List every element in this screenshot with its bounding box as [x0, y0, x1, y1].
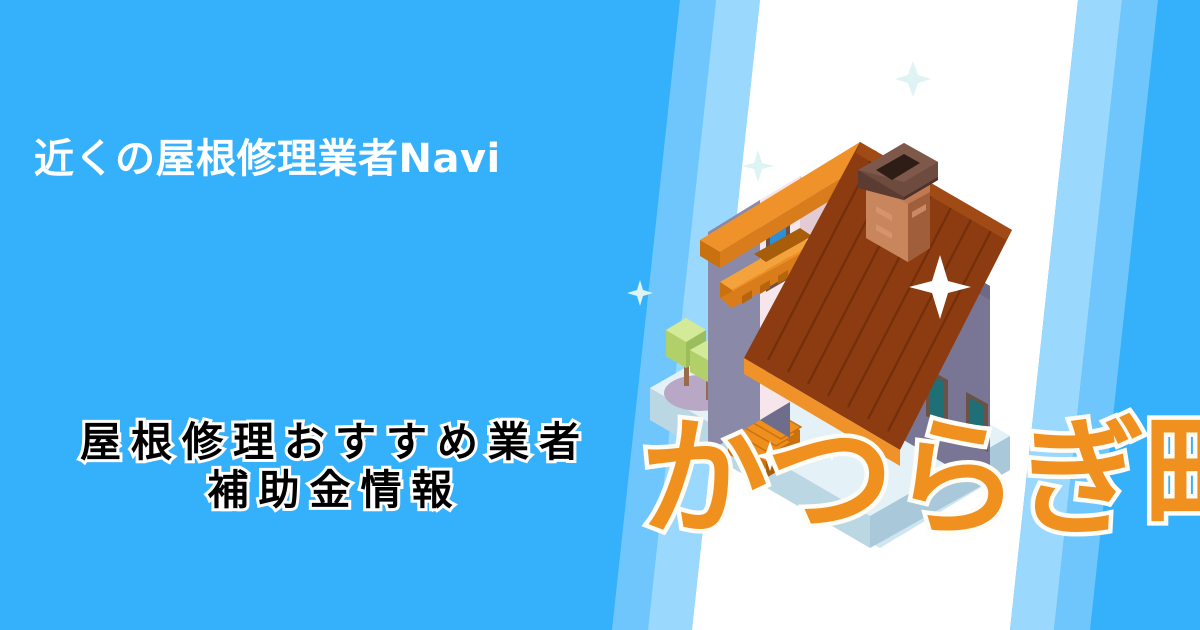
headline-line-2: 補助金情報 — [0, 466, 660, 514]
site-name: 近くの屋根修理業者Navi — [34, 135, 501, 183]
region-name: かつらぎ町 — [640, 416, 1200, 544]
headline: 屋根修理おすすめ業者 補助金情報 — [0, 418, 660, 515]
banner-root: 近くの屋根修理業者Navi 屋根修理おすすめ業者 補助金情報 かつらぎ町 — [0, 0, 1200, 630]
headline-line-1: 屋根修理おすすめ業者 — [0, 418, 660, 466]
